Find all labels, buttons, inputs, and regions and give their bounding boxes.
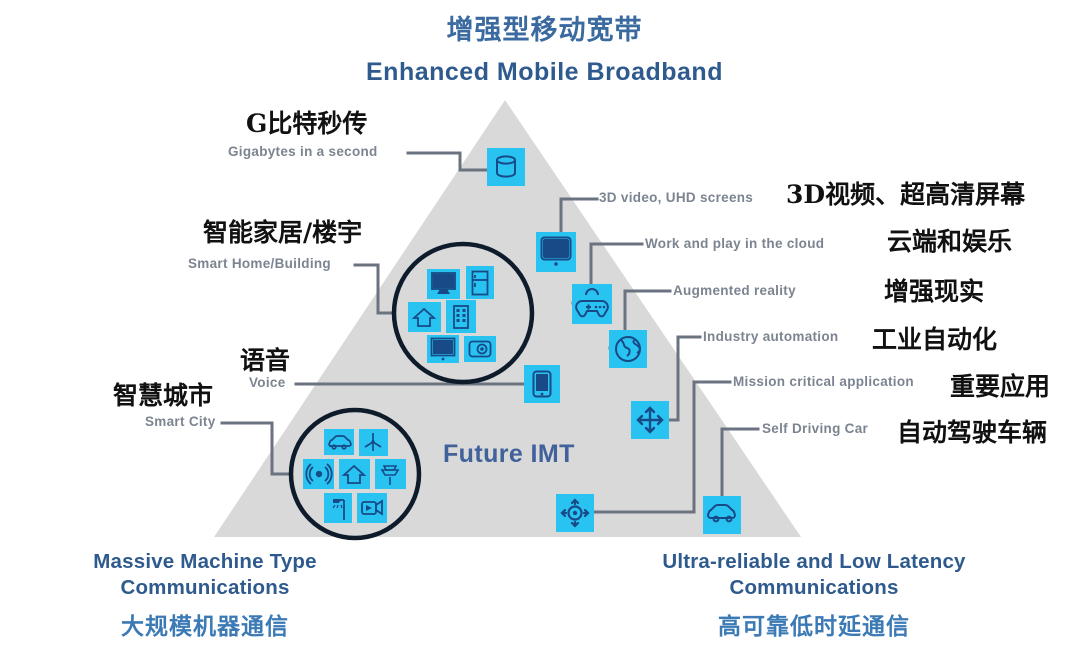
corner-mmtc-en-line1: Massive Machine Type xyxy=(15,549,395,575)
label-voice-cn: 语音 xyxy=(240,341,290,377)
label-mission-en: Mission critical application xyxy=(733,374,914,389)
arrows-expand-icon[interactable] xyxy=(631,401,669,439)
house-icon xyxy=(408,302,441,332)
tv-icon[interactable] xyxy=(536,232,576,272)
label-cloud-cn: 云端和娱乐 xyxy=(887,222,1012,258)
refrigerator-icon xyxy=(466,266,494,299)
apartment-icon xyxy=(446,300,476,333)
camera-icon xyxy=(464,336,496,362)
label-3d-video-cn: 3D视频、超高清屏幕 xyxy=(786,175,1025,211)
label-gigabytes-cn: G比特秒传 xyxy=(246,104,367,140)
label-industry-cn: 工业自动化 xyxy=(872,320,997,356)
label-3d-video-en: 3D video, UHD screens xyxy=(599,190,753,205)
video-camera-icon xyxy=(357,493,387,523)
wind-turbine-icon xyxy=(359,429,388,456)
label-smart-city-en: Smart City xyxy=(145,414,216,429)
television-icon xyxy=(427,335,459,363)
car-icon[interactable] xyxy=(703,496,741,534)
label-ar-cn: 增强现实 xyxy=(884,272,984,308)
target-icon[interactable] xyxy=(556,494,594,532)
diagram-canvas: 增强型移动宽带 Enhanced Mobile Broadband G比特秒传 … xyxy=(0,0,1089,665)
center-label: Future IMT xyxy=(443,440,575,469)
corner-mmtc-cn: 大规模机器通信 xyxy=(15,607,395,641)
label-cloud-en: Work and play in the cloud xyxy=(645,236,824,251)
label-voice-en: Voice xyxy=(249,375,286,390)
corner-mmtc: Massive Machine Type Communications 大规模机… xyxy=(15,549,395,641)
corner-mmtc-en-line2: Communications xyxy=(15,575,395,601)
monitor-icon xyxy=(427,269,460,299)
corner-urllc-en-line1: Ultra-reliable and Low Latency xyxy=(594,549,1034,575)
label-industry-en: Industry automation xyxy=(703,329,838,344)
corner-urllc: Ultra-reliable and Low Latency Communica… xyxy=(594,549,1034,641)
label-ar-en: Augmented reality xyxy=(673,283,796,298)
database-icon[interactable] xyxy=(487,148,525,186)
smartphone-icon[interactable] xyxy=(524,365,560,403)
wifi-signal-icon xyxy=(303,459,334,489)
solar-panel-icon xyxy=(375,459,406,489)
gamepad-icon[interactable] xyxy=(572,284,612,324)
label-smart-city-cn: 智慧城市 xyxy=(113,376,213,412)
label-self-drive-en: Self Driving Car xyxy=(762,421,868,436)
label-gigabytes-en: Gigabytes in a second xyxy=(228,144,378,159)
corner-urllc-cn: 高可靠低时延通信 xyxy=(594,607,1034,641)
page-title-cn: 增强型移动宽带 xyxy=(0,8,1089,47)
city-car-icon xyxy=(324,429,354,455)
label-smart-home-en: Smart Home/Building xyxy=(188,256,331,271)
city-house-icon xyxy=(339,459,370,489)
label-mission-cn: 重要应用 xyxy=(950,367,1050,403)
page-title-en: Enhanced Mobile Broadband xyxy=(0,58,1089,87)
corner-urllc-en-line2: Communications xyxy=(594,575,1034,601)
globe-icon[interactable] xyxy=(609,330,647,368)
label-self-drive-cn: 自动驾驶车辆 xyxy=(897,413,1047,449)
label-smart-home-cn: 智能家居/楼宇 xyxy=(203,213,362,249)
street-light-icon xyxy=(324,493,352,523)
